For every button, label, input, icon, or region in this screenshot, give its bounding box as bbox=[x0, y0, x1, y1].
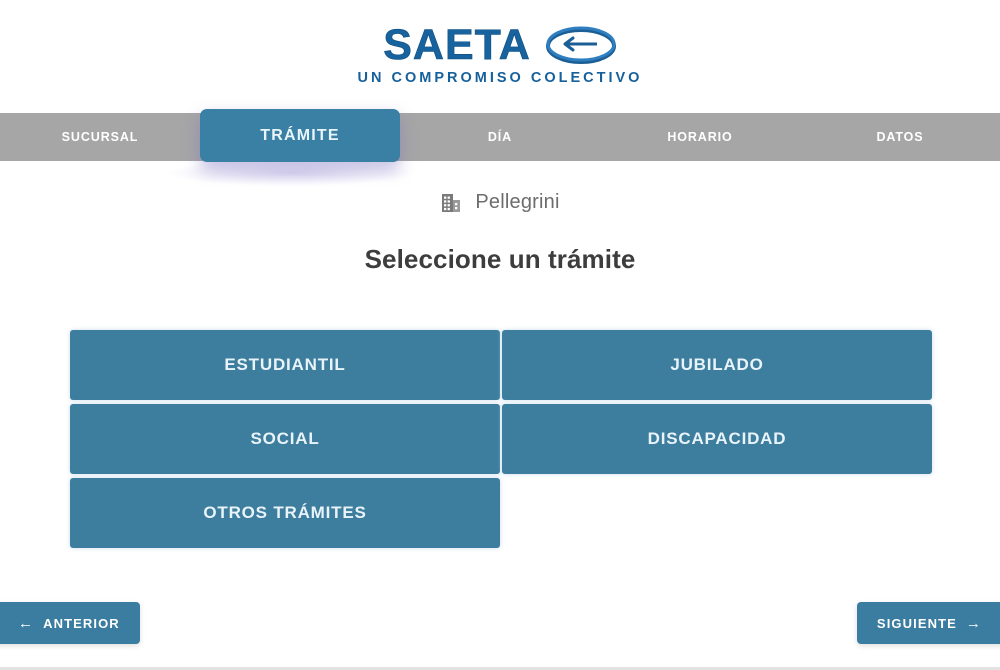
tramite-options-grid: ESTUDIANTIL JUBILADO SOCIAL DISCAPACIDAD… bbox=[70, 330, 932, 548]
next-button[interactable]: SIGUIENTE → bbox=[857, 602, 1000, 644]
option-jubilado[interactable]: JUBILADO bbox=[502, 330, 932, 400]
building-icon bbox=[440, 192, 462, 214]
tab-horario[interactable]: HORARIO bbox=[600, 113, 800, 161]
option-estudiantil[interactable]: ESTUDIANTIL bbox=[70, 330, 500, 400]
branch-name-label: Pellegrini bbox=[475, 191, 559, 214]
tab-sucursal[interactable]: SUCURSAL bbox=[0, 113, 200, 161]
option-social[interactable]: SOCIAL bbox=[70, 404, 500, 474]
page-footer: ← ANTERIOR SIGUIENTE → bbox=[0, 581, 1000, 670]
ellipse-arrow-icon bbox=[545, 26, 617, 64]
previous-button-label: ANTERIOR bbox=[43, 616, 120, 631]
previous-button[interactable]: ← ANTERIOR bbox=[0, 602, 140, 644]
arrow-left-icon: ← bbox=[18, 616, 34, 631]
brand-logo: SAETA UN COMPROMISO COLECTIVO bbox=[358, 24, 643, 86]
arrow-right-icon: → bbox=[966, 616, 982, 631]
page-title: Seleccione un trámite bbox=[0, 244, 1000, 275]
selected-branch: Pellegrini bbox=[0, 191, 1000, 214]
tab-dia[interactable]: DÍA bbox=[400, 113, 600, 161]
logo-row: SAETA bbox=[383, 24, 617, 67]
brand-wordmark: SAETA bbox=[383, 24, 531, 67]
option-discapacidad[interactable]: DISCAPACIDAD bbox=[502, 404, 932, 474]
brand-tagline: UN COMPROMISO COLECTIVO bbox=[358, 70, 643, 86]
step-navigation: SUCURSAL TRÁMITE DÍA HORARIO DATOS bbox=[0, 113, 1000, 161]
page-header: SAETA UN COMPROMISO COLECTIVO bbox=[0, 0, 1000, 113]
option-otros-tramites[interactable]: OTROS TRÁMITES bbox=[70, 478, 500, 548]
tab-tramite[interactable]: TRÁMITE bbox=[200, 109, 400, 162]
tab-datos[interactable]: DATOS bbox=[800, 113, 1000, 161]
main-content: Pellegrini Seleccione un trámite ESTUDIA… bbox=[0, 161, 1000, 581]
next-button-label: SIGUIENTE bbox=[877, 616, 957, 631]
